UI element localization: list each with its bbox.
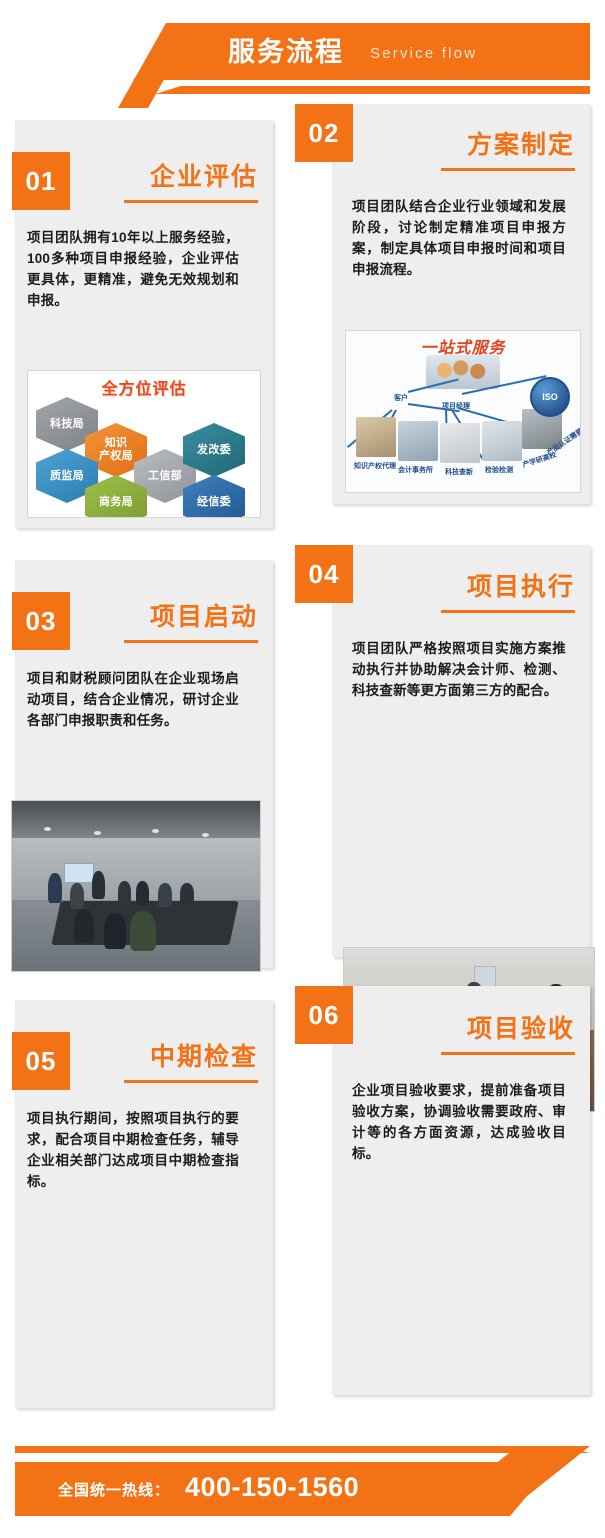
one-stop-tile-ip	[356, 417, 396, 457]
one-stop-node-label-testing: 检验检测	[485, 465, 513, 475]
step-number-badge-05: 05	[12, 1032, 70, 1090]
photo-person-3	[92, 871, 105, 899]
photo-person-4	[118, 881, 131, 905]
photo-person-9	[104, 913, 126, 949]
step-title-rule-02	[441, 168, 575, 171]
step-title-rule-01	[124, 200, 258, 203]
step-number-badge-02: 02	[295, 104, 353, 162]
step-title-05: 中期检查	[48, 1040, 258, 1074]
page-header: 服务流程 Service flow	[0, 0, 605, 108]
step-body-03: 项目和财税顾问团队在企业现场启动项目，结合企业情况，研讨企业各部门申报职责和任务…	[27, 668, 239, 731]
service-flow-infographic: 服务流程 Service flow 01 企业评估 项目团队拥有10年以上服务经…	[0, 0, 605, 1538]
step-title-rule-03	[124, 640, 258, 643]
step-body-01: 项目团队拥有10年以上服务经验，100多种项目申报经验，企业评估更具体，更精准，…	[27, 227, 239, 311]
step-figure-02-one-stop-diagram: 一站式服务 客户 项目经理 ISO 知识产权代理 会计事务所 科技查新 检验检测…	[345, 330, 581, 493]
photo-person-5	[136, 881, 149, 905]
photo-person-2	[70, 883, 84, 909]
photo-person-8	[74, 909, 94, 943]
one-stop-tile-testing	[482, 421, 522, 461]
step-card-06	[332, 986, 590, 1395]
photo-light-1	[44, 827, 51, 831]
one-stop-tile-novelty	[440, 423, 480, 463]
step-number-badge-06: 06	[295, 986, 353, 1044]
step-figure-01-hexagon-chart: 全方位评估 科技局 知识产权局 质监局 工信部 商务局 发改委 经信委	[27, 370, 261, 518]
photo-light-2	[94, 831, 101, 835]
step-title-01: 企业评估	[48, 160, 258, 194]
photo-person-7	[180, 883, 194, 907]
step-title-06: 项目验收	[365, 1012, 575, 1046]
header-banner-bar	[133, 23, 590, 80]
step-title-rule-04	[441, 610, 575, 613]
step-number-badge-04: 04	[295, 545, 353, 603]
hexagon-chart-title: 全方位评估	[101, 375, 186, 399]
one-stop-client-label: 客户	[394, 393, 408, 403]
photo-light-3	[152, 829, 159, 833]
one-stop-iso-badge: ISO	[530, 377, 570, 417]
one-stop-node-label-novelty: 科技查新	[445, 467, 473, 477]
page-subtitle: Service flow	[370, 44, 477, 64]
one-stop-tile-accounting	[398, 421, 438, 461]
page-title: 服务流程	[228, 33, 344, 71]
step-number-badge-03: 03	[12, 592, 70, 650]
header-accent-stripe	[155, 86, 590, 94]
hotline-phone-number[interactable]: 400-150-1560	[185, 1472, 359, 1503]
page-footer: 全国统一热线： 400-150-1560	[0, 1432, 605, 1538]
step-title-rule-05	[124, 1080, 258, 1083]
step-body-06: 企业项目验收要求，提前准备项目验收方案，协调验收需要政府、审计等的各方面资源，达…	[352, 1080, 566, 1164]
step-number-badge-01: 01	[12, 152, 70, 210]
photo-person-1	[48, 873, 62, 903]
photo-light-4	[202, 833, 209, 837]
one-stop-node-label-accounting: 会计事务所	[398, 465, 433, 475]
step-title-02: 方案制定	[365, 128, 575, 162]
step-card-04	[332, 545, 590, 957]
photo-person-10	[130, 911, 156, 951]
hotline-label: 全国统一热线：	[58, 1479, 170, 1500]
step-figure-03-photo	[11, 800, 261, 972]
step-body-02: 项目团队结合企业行业领域和发展阶段，讨论制定精准项目申报方案，制定具体项目申报时…	[352, 196, 566, 280]
step-title-rule-06	[441, 1052, 575, 1055]
step-body-04: 项目团队严格按照项目实施方案推动执行并协助解决会计师、检测、科技查新等更方面第三…	[352, 638, 566, 701]
one-stop-node-label-ip: 知识产权代理	[354, 461, 396, 471]
step-title-03: 项目启动	[48, 600, 258, 634]
photo-person-6	[158, 883, 172, 907]
photo-whiteboard	[64, 863, 94, 883]
footer-accent-stripe	[15, 1446, 590, 1453]
step-title-04: 项目执行	[365, 570, 575, 604]
step-body-05: 项目执行期间，按照项目执行的要求，配合项目中期检查任务，辅导企业相关部门达成项目…	[27, 1108, 239, 1192]
